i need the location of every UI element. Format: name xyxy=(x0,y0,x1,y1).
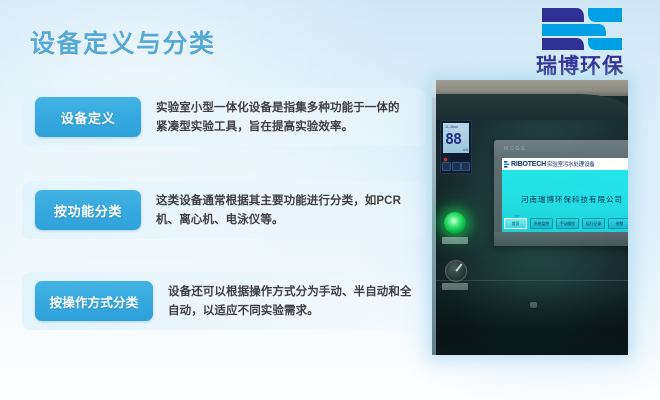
content-row: 按功能分类 这类设备通常根据其主要功能进行分类，如PCR机、离心机、电泳仪等。 xyxy=(22,181,426,239)
hmi-company-name: 河南瑞博环保科技有限公司 xyxy=(502,194,628,205)
logo-text: 瑞博环保 xyxy=(510,50,650,80)
hmi-nav-button-monitor[interactable]: 系统监控 xyxy=(530,218,553,229)
rotary-selector-knob[interactable] xyxy=(445,260,467,282)
equipment-photo: 11.38ml 88 uS MCGS xyxy=(432,80,628,355)
hmi-bezel-bottom xyxy=(494,232,628,246)
category-pill-by-function[interactable]: 按功能分类 xyxy=(35,190,141,230)
company-logo: 瑞博环保 xyxy=(510,6,650,82)
lamp-label-plate xyxy=(442,237,468,244)
meter-button[interactable] xyxy=(452,162,461,171)
meter-status-led xyxy=(444,158,447,161)
hmi-nav-button-params[interactable]: 参数 xyxy=(608,218,628,229)
machine-bottom-shadow xyxy=(436,283,628,355)
equipment-photo-inner: 11.38ml 88 uS MCGS xyxy=(432,80,628,355)
machine-door-seam xyxy=(436,280,628,281)
content-row: 设备定义 实验室小型一体化设备是指集多种功能于一体的紧凑型实验工具，旨在提高实验… xyxy=(22,88,426,146)
hmi-screen-titlebar: RIBOTECH 实验室污水处理设备 xyxy=(502,158,628,170)
meter-sub-label: uS xyxy=(463,147,468,152)
content-row: 按操作方式分类 设备还可以根据操作方式分为手动、半自动和全自动，以适应不同实验需… xyxy=(22,272,426,330)
pill-label: 按功能分类 xyxy=(54,201,122,220)
meter-button-group xyxy=(442,162,470,171)
pill-label: 设备定义 xyxy=(61,108,115,127)
row-body-text: 实验室小型一体化设备是指集多种功能于一体的紧凑型实验工具，旨在提高实验效率。 xyxy=(156,99,408,137)
hmi-brand-logo-icon xyxy=(504,161,510,168)
meter-lcd-screen: 11.38ml 88 uS xyxy=(443,123,469,153)
page-title: 设备定义与分类 xyxy=(30,24,216,60)
pill-label: 按操作方式分类 xyxy=(50,292,139,311)
machine-top-edge xyxy=(436,94,628,120)
category-pill-by-operation-mode[interactable]: 按操作方式分类 xyxy=(35,281,153,321)
category-pill-equipment-definition[interactable]: 设备定义 xyxy=(35,97,141,137)
hmi-nav-bar: 首页 系统监控 手动操作 运行记录 参数 xyxy=(504,218,628,229)
meter-button[interactable] xyxy=(442,162,451,171)
slide-canvas: 设备定义与分类 瑞博环保 设备定义 实验室小型一体化设备是指集多种功能于一体的紧… xyxy=(0,0,660,400)
digital-meter-display: 11.38ml 88 uS xyxy=(440,120,472,174)
hmi-nav-button-manual[interactable]: 手动操作 xyxy=(556,218,579,229)
knob-pointer xyxy=(455,263,462,271)
hmi-screen-subtitle: 实验室污水处理设备 xyxy=(547,160,595,168)
meter-button[interactable] xyxy=(461,162,470,171)
hmi-touch-panel[interactable]: MCGS RIBOTECH 实验室污水处理设备 河南瑞博环保科技有限公司 xyxy=(494,140,628,246)
meter-value: 88 xyxy=(445,130,461,148)
hmi-screen-brand: RIBOTECH xyxy=(511,161,546,168)
hmi-panel-brand: MCGS xyxy=(504,146,526,152)
hmi-nav-button-home[interactable]: 首页 xyxy=(504,218,527,229)
row-body-text: 设备还可以根据操作方式分为手动、半自动和全自动，以适应不同实验需求。 xyxy=(168,283,420,321)
ribotech-logo-mark-icon xyxy=(540,6,624,52)
hmi-nav-button-records[interactable]: 运行记录 xyxy=(582,218,605,229)
hmi-screen[interactable]: RIBOTECH 实验室污水处理设备 河南瑞博环保科技有限公司 首页 系统监控 … xyxy=(502,158,628,232)
row-body-text: 这类设备通常根据其主要功能进行分类，如PCR机、离心机、电泳仪等。 xyxy=(156,192,408,230)
power-indicator-lamp xyxy=(444,212,466,234)
meter-unit-label: 11.38ml xyxy=(445,124,458,129)
